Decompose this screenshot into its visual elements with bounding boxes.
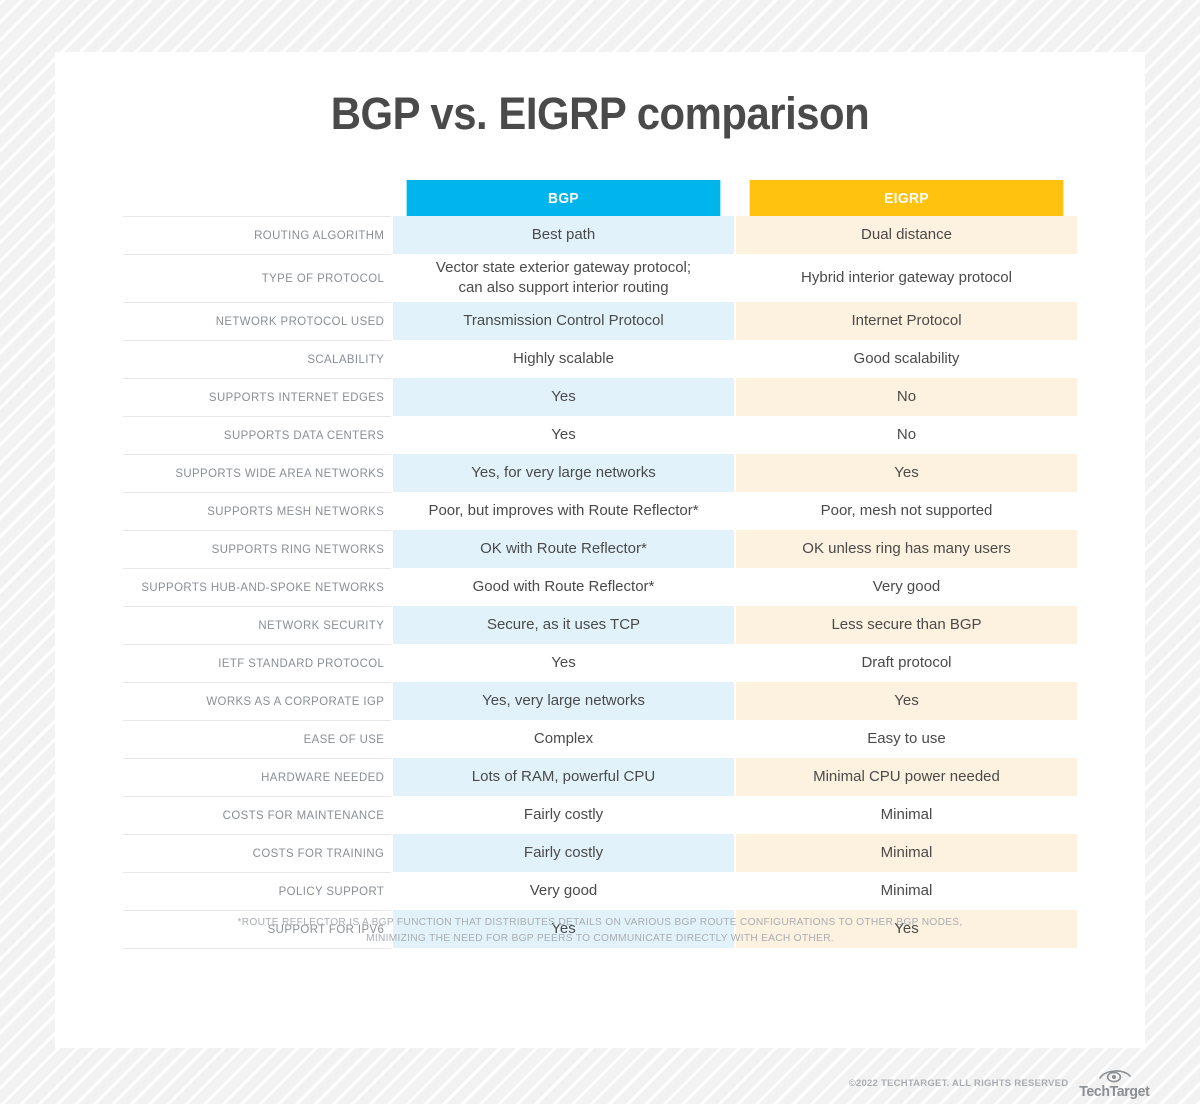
- table-row: EASE OF USEComplexEasy to use: [123, 720, 1077, 758]
- row-label: IETF STANDARD PROTOCOL: [130, 644, 385, 682]
- cell-bgp: OK with Route Reflector*: [393, 530, 734, 568]
- page-title: BGP vs. EIGRP comparison: [93, 52, 1107, 140]
- cell-eigrp: Dual distance: [736, 216, 1077, 254]
- cell-eigrp: Minimal: [736, 834, 1077, 872]
- cell-bgp: Best path: [393, 216, 734, 254]
- cell-bgp: Complex: [393, 720, 734, 758]
- cell-bgp: Good with Route Reflector*: [393, 568, 734, 606]
- header-gap-1: [391, 180, 393, 216]
- table-row: SUPPORTS MESH NETWORKSPoor, but improves…: [123, 492, 1077, 530]
- row-label: HARDWARE NEEDED: [130, 758, 385, 796]
- cell-eigrp: OK unless ring has many users: [736, 530, 1077, 568]
- table-row: SCALABILITYHighly scalableGood scalabili…: [123, 340, 1077, 378]
- row-label: COSTS FOR TRAINING: [130, 834, 385, 872]
- cell-eigrp: No: [736, 378, 1077, 416]
- cell-eigrp: Good scalability: [736, 340, 1077, 378]
- cell-eigrp: Yes: [736, 682, 1077, 720]
- cell-eigrp: Minimal: [736, 872, 1077, 910]
- row-label: COSTS FOR MAINTENANCE: [130, 796, 385, 834]
- cell-bgp: Fairly costly: [393, 834, 734, 872]
- table-row: SUPPORTS HUB-AND-SPOKE NETWORKSGood with…: [123, 568, 1077, 606]
- cell-bgp: Yes, for very large networks: [393, 454, 734, 492]
- cell-eigrp: Draft protocol: [736, 644, 1077, 682]
- cell-eigrp: Hybrid interior gateway protocol: [736, 254, 1077, 302]
- row-label: EASE OF USE: [130, 720, 385, 758]
- cell-eigrp: Minimal CPU power needed: [736, 758, 1077, 796]
- table-row: ROUTING ALGORITHMBest pathDual distance: [123, 216, 1077, 254]
- row-label: SUPPORTS DATA CENTERS: [130, 416, 385, 454]
- cell-eigrp: Very good: [736, 568, 1077, 606]
- table-row: SUPPORTS INTERNET EDGESYesNo: [123, 378, 1077, 416]
- cell-bgp: Fairly costly: [393, 796, 734, 834]
- cell-bgp: Very good: [393, 872, 734, 910]
- eye-icon: [1098, 1068, 1132, 1083]
- table-row: COSTS FOR MAINTENANCEFairly costlyMinima…: [123, 796, 1077, 834]
- table-body: ROUTING ALGORITHMBest pathDual distanceT…: [123, 216, 1077, 948]
- page-footer: ©2022 TECHTARGET. ALL RIGHTS RESERVED Te…: [0, 1068, 1152, 1099]
- cell-bgp: Yes: [393, 416, 734, 454]
- cell-eigrp: Minimal: [736, 796, 1077, 834]
- table-row: NETWORK SECURITYSecure, as it uses TCPLe…: [123, 606, 1077, 644]
- column-header-eigrp: EIGRP: [750, 180, 1064, 216]
- techtarget-logo: TechTarget: [1077, 1068, 1152, 1099]
- table-header-row: BGP EIGRP: [123, 180, 1077, 216]
- table-row: WORKS AS A CORPORATE IGPYes, very large …: [123, 682, 1077, 720]
- table-row: TYPE OF PROTOCOLVector state exterior ga…: [123, 254, 1077, 302]
- footnote: *ROUTE REFLECTOR IS A BGP FUNCTION THAT …: [71, 914, 1128, 947]
- row-label: SUPPORTS RING NETWORKS: [130, 530, 385, 568]
- row-label: ROUTING ALGORITHM: [130, 216, 385, 254]
- cell-eigrp: No: [736, 416, 1077, 454]
- cell-bgp: Yes: [393, 378, 734, 416]
- cell-eigrp: Less secure than BGP: [736, 606, 1077, 644]
- row-label: SCALABILITY: [130, 340, 385, 378]
- cell-bgp: Yes, very large networks: [393, 682, 734, 720]
- cell-bgp: Highly scalable: [393, 340, 734, 378]
- cell-bgp: Lots of RAM, powerful CPU: [393, 758, 734, 796]
- row-label: POLICY SUPPORT: [130, 872, 385, 910]
- footnote-line-1: *ROUTE REFLECTOR IS A BGP FUNCTION THAT …: [71, 914, 1128, 930]
- table-row: SUPPORTS WIDE AREA NETWORKSYes, for very…: [123, 454, 1077, 492]
- cell-eigrp: Yes: [736, 454, 1077, 492]
- table-corner-cell: [123, 180, 391, 216]
- table-row: POLICY SUPPORTVery goodMinimal: [123, 872, 1077, 910]
- row-label: TYPE OF PROTOCOL: [130, 254, 385, 302]
- table-row: NETWORK PROTOCOL USEDTransmission Contro…: [123, 302, 1077, 340]
- row-label: WORKS AS A CORPORATE IGP: [130, 682, 385, 720]
- cell-eigrp: Internet Protocol: [736, 302, 1077, 340]
- techtarget-wordmark: TechTarget: [1080, 1084, 1150, 1099]
- comparison-table: BGP EIGRP ROUTING ALGORITHMBest pathDual…: [123, 180, 1077, 949]
- table-row: HARDWARE NEEDEDLots of RAM, powerful CPU…: [123, 758, 1077, 796]
- cell-bgp: Yes: [393, 644, 734, 682]
- row-label: SUPPORTS INTERNET EDGES: [130, 378, 385, 416]
- cell-eigrp: Poor, mesh not supported: [736, 492, 1077, 530]
- infographic-card: BGP vs. EIGRP comparison BGP EIGRP ROUTI…: [55, 52, 1145, 1048]
- table-row: COSTS FOR TRAININGFairly costlyMinimal: [123, 834, 1077, 872]
- cell-eigrp: Easy to use: [736, 720, 1077, 758]
- table-row: SUPPORTS RING NETWORKSOK with Route Refl…: [123, 530, 1077, 568]
- copyright-text: ©2022 TECHTARGET. ALL RIGHTS RESERVED: [849, 1078, 1069, 1089]
- footnote-line-2: MINIMIZING THE NEED FOR BGP PEERS TO COM…: [71, 930, 1128, 946]
- cell-bgp: Vector state exterior gateway protocol;c…: [393, 254, 734, 302]
- cell-bgp: Poor, but improves with Route Reflector*: [393, 492, 734, 530]
- row-label: SUPPORTS HUB-AND-SPOKE NETWORKS: [130, 568, 385, 606]
- row-label: SUPPORTS MESH NETWORKS: [130, 492, 385, 530]
- row-label: SUPPORTS WIDE AREA NETWORKS: [130, 454, 385, 492]
- table-row: IETF STANDARD PROTOCOLYesDraft protocol: [123, 644, 1077, 682]
- header-gap-2: [734, 180, 736, 216]
- row-label: NETWORK SECURITY: [130, 606, 385, 644]
- column-header-bgp: BGP: [407, 180, 721, 216]
- table-row: SUPPORTS DATA CENTERSYesNo: [123, 416, 1077, 454]
- table-header: BGP EIGRP: [123, 180, 1077, 216]
- cell-bgp: Transmission Control Protocol: [393, 302, 734, 340]
- cell-bgp: Secure, as it uses TCP: [393, 606, 734, 644]
- row-label: NETWORK PROTOCOL USED: [130, 302, 385, 340]
